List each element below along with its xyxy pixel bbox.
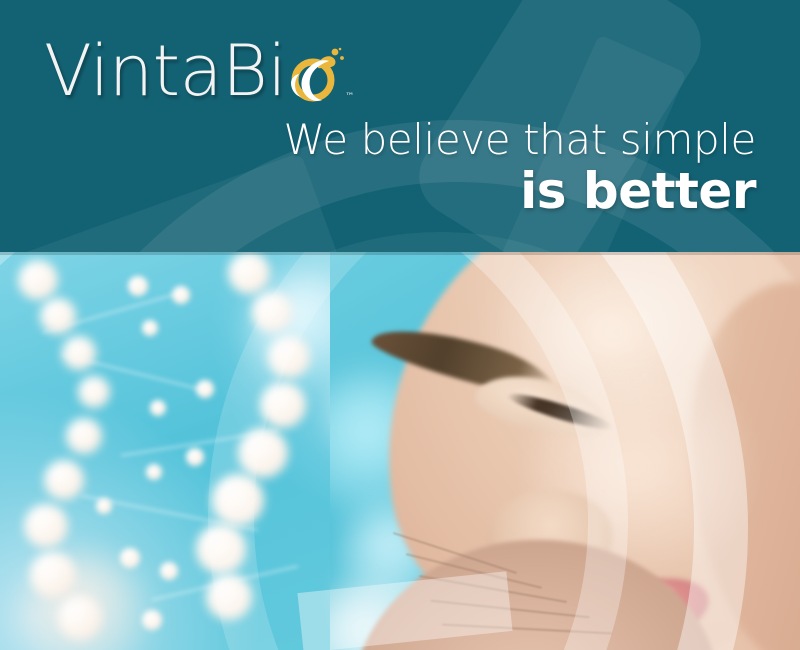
helix-bead-small (120, 548, 140, 568)
helix-bead-small (146, 464, 162, 480)
helix-bead-small (142, 610, 162, 630)
helix-bead (78, 376, 110, 408)
mother-closed-eye (471, 364, 615, 447)
helix-bead (238, 428, 288, 478)
helix-bead (62, 336, 96, 370)
helix-bead (260, 382, 306, 428)
tagline-line-1: We believe that simple (284, 116, 756, 164)
tagline: We believe that simple is better (284, 116, 756, 220)
vintabio-ring-mark-icon (288, 44, 344, 104)
mother-kissing-baby-photo (330, 252, 800, 650)
helix-bead-small (142, 320, 158, 336)
helix-strand (121, 429, 279, 456)
helix-bead (268, 336, 310, 378)
hero-photo (0, 252, 800, 650)
helix-strand (42, 293, 177, 334)
lips-highlight (605, 580, 680, 617)
helix-bead (252, 292, 292, 332)
helix-bead (66, 418, 102, 454)
helix-bead (44, 460, 84, 500)
vintabio-logo[interactable]: VintaBi ™ (44, 28, 354, 106)
helix-bead-small (128, 276, 148, 296)
mother-nose (483, 484, 618, 601)
oversized-ring-watermark-inner (120, 232, 760, 252)
mother-nostril (524, 553, 574, 584)
helix-bead (24, 504, 68, 548)
trademark-symbol: ™ (345, 92, 354, 102)
helix-bead (30, 552, 76, 598)
tagline-line-2: is better (284, 162, 756, 220)
helix-bead-small (160, 562, 178, 580)
helix-bead (196, 524, 246, 574)
helix-bead-small (96, 498, 112, 514)
vintabio-banner: VintaBi ™ (0, 0, 800, 650)
mother-lips (575, 567, 716, 650)
helix-bead (58, 596, 102, 640)
helix-bead (18, 260, 58, 300)
helix-bead-small (150, 400, 166, 416)
logo-wordmark: VintaBi (44, 36, 286, 106)
mother-eyelashes (505, 388, 615, 435)
helix-strand (62, 354, 208, 392)
helix-bead (212, 474, 264, 526)
helix-bead (228, 252, 270, 294)
helix-bead (206, 574, 252, 620)
photo-background (330, 252, 480, 650)
mother-jaw (690, 282, 800, 650)
helix-bead-small (186, 448, 204, 466)
helix-strand (152, 565, 299, 601)
cheek-highlight (530, 372, 760, 582)
banner-header: VintaBi ™ (0, 0, 800, 252)
helix-bead-small (196, 380, 214, 398)
bokeh-circle (20, 552, 150, 650)
forehead-highlight (480, 252, 740, 442)
helix-bead-small (172, 286, 190, 304)
helix-bead (40, 298, 76, 334)
helix-strand (81, 495, 258, 531)
